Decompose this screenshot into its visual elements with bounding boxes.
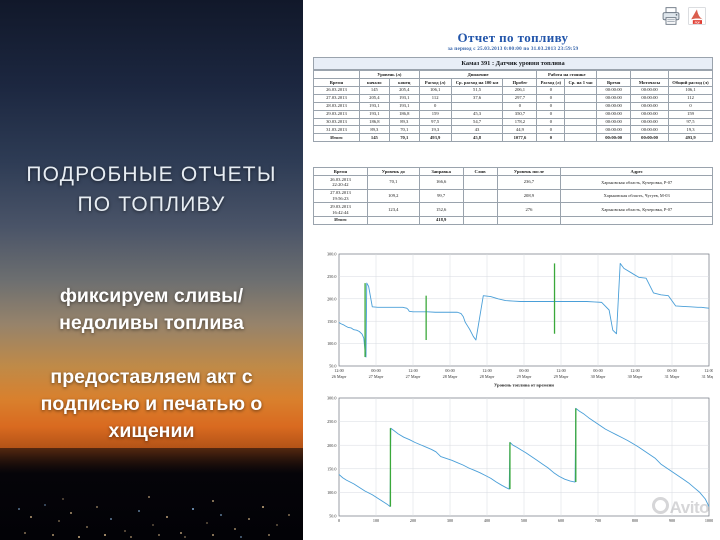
x-tick-label: 500 (521, 518, 527, 523)
table-cell: 276 (497, 203, 561, 217)
table-cell: 297,7 (503, 94, 537, 102)
table-cell: Харьковская область, Кучеровка, Р-07 (561, 203, 713, 217)
y-tick-label: 250.0 (327, 274, 336, 279)
table-cell (561, 216, 713, 224)
table-cell: 350,7 (503, 110, 537, 118)
table-cell: 28.03.2013 (314, 102, 360, 110)
y-tick-label: 100.0 (327, 490, 336, 495)
table-row: 29.03.201316:42:44123,4152,6276Харьковск… (314, 203, 713, 217)
table-cell: 89,3 (359, 126, 389, 134)
table-cell: 193,1 (359, 102, 389, 110)
column-header-7: Ср. на 1 час (565, 78, 597, 86)
table-cell: Итого (314, 216, 368, 224)
table-row: 27.03.2013205,4193,111237,6297,7000:00:0… (314, 94, 713, 102)
x-tick-label-date: 27 Март (369, 374, 384, 379)
x-tick-label-date: 27 Март (406, 374, 421, 379)
table-row: 26.03.201322:20:4270,1166,6236,7Харьковс… (314, 175, 713, 189)
table-cell: 193,1 (389, 102, 419, 110)
promo-headline-line1: ПОДРОБНЫЕ ОТЧЕТЫ (0, 160, 303, 190)
table-cell: Итого (314, 134, 360, 142)
table-cell: 00:00:00 (631, 102, 669, 110)
table-cell: 0 (537, 134, 565, 142)
table-cell: 54,7 (451, 118, 503, 126)
x-tick-label-time: 00:00 (667, 368, 677, 373)
table-cell: 206,1 (503, 86, 537, 94)
table-cell: 493,9 (419, 134, 451, 142)
table-cell: 29.03.2013 (314, 110, 360, 118)
table-cell: 00:00:00 (597, 102, 631, 110)
table-cell: 00:00:00 (597, 118, 631, 126)
table-cell: 193,1 (359, 110, 389, 118)
table-cell: 186,8 (389, 110, 419, 118)
table-cell: 70,1 (389, 134, 419, 142)
table-cell: 0 (419, 102, 451, 110)
group-header-4 (597, 71, 631, 79)
table-cell: 0 (537, 126, 565, 134)
table-cell: 159 (419, 110, 451, 118)
table-cell (565, 110, 597, 118)
column-header-2: конец (389, 78, 419, 86)
table-cell: 89,3 (389, 118, 419, 126)
table-cell: 493,9 (669, 134, 713, 142)
x-tick-label: 700 (595, 518, 601, 523)
table-cell: Харьковская область, Чугуев, М-03 (561, 189, 713, 203)
group-header-row: Уровень (л)ДвижениеРабота на стоянке (314, 71, 713, 79)
table-cell: 27.03.2013 (314, 94, 360, 102)
fuel-summary-tbody: 26.03.2013145205,4106,151,5206,1000:00:0… (314, 86, 713, 141)
svg-text:PDF: PDF (695, 20, 701, 24)
city-lights (0, 448, 303, 540)
promo-bullet-2: предоставляем акт с подписью и печатью о… (0, 364, 303, 445)
table-cell: 19,3 (669, 126, 713, 134)
table-cell: 00:00:00 (631, 94, 669, 102)
table-cell: 106,1 (419, 86, 451, 94)
promo-headline-line2: ПО ТОПЛИВУ (0, 190, 303, 220)
avito-watermark: Avito (652, 497, 709, 518)
table-cell: 0 (537, 110, 565, 118)
group-header-6 (669, 71, 713, 79)
device-bar: Камаз 391 : Датчик уровня топлива (313, 57, 713, 70)
table-cell (565, 94, 597, 102)
table-cell: 0 (537, 102, 565, 110)
group-header-2: Движение (419, 71, 537, 79)
table-cell: 0 (537, 94, 565, 102)
table-row: 27.03.201319:56:23109,299,7208,9Харьковс… (314, 189, 713, 203)
table-cell (367, 216, 419, 224)
y-tick-label: 200.0 (327, 443, 336, 448)
table-cell (565, 102, 597, 110)
x-tick-label-time: 00:00 (371, 368, 381, 373)
y-tick-label: 250.0 (327, 419, 336, 424)
table-row: 29.03.2013193,1186,815945,3350,7000:00:0… (314, 110, 713, 118)
table-row: 26.03.2013145205,4106,151,5206,1000:00:0… (314, 86, 713, 94)
column-header-5: Пробег (503, 78, 537, 86)
x-tick-label-time: 12:00 (704, 368, 713, 373)
table-cell (497, 216, 561, 224)
fuel-events-table: ВремяУровень доЗаправкаСливУровень после… (313, 167, 713, 225)
events-column-header-0: Время (314, 168, 368, 176)
page-root: ПОДРОБНЫЕ ОТЧЕТЫ ПО ТОПЛИВУ фиксируем сл… (0, 0, 720, 540)
table-cell (565, 86, 597, 94)
group-header-3: Работа на стоянке (537, 71, 597, 79)
x-tick-label-date: 28 Март (480, 374, 495, 379)
x-tick-label-time: 00:00 (593, 368, 603, 373)
table-cell: 106,1 (669, 86, 713, 94)
table-row: 28.03.2013193,1193,100000:00:0000:00:000 (314, 102, 713, 110)
x-tick-label: 400 (484, 518, 490, 523)
report-subtitle: за период с 25.03.2013 0:00:00 по 31.03.… (311, 46, 715, 52)
table-cell: 45,8 (451, 134, 503, 142)
table-cell: 236,7 (497, 175, 561, 189)
table-cell: 45,3 (451, 110, 503, 118)
table-cell (565, 118, 597, 126)
table-cell: 00:00:00 (631, 86, 669, 94)
events-column-header-5: Адрес (561, 168, 713, 176)
x-tick-label-date: 29 Март (517, 374, 532, 379)
table-cell: 70,1 (367, 175, 419, 189)
column-header-row: ВремяначалоконецРасход (л)Ср. расход на … (314, 78, 713, 86)
x-tick-label: 300 (447, 518, 453, 523)
chart-svg: 50.0100.0150.0200.0250.0300.012:0026 Мар… (313, 250, 713, 388)
x-tick-label-time: 12:00 (556, 368, 566, 373)
x-tick-label-date: 30 Март (591, 374, 606, 379)
x-tick-label: 200 (410, 518, 416, 523)
table-cell: 0 (669, 102, 713, 110)
table-cell: 109,2 (367, 189, 419, 203)
table-cell: 00:00:00 (597, 94, 631, 102)
table-cell: 145 (359, 86, 389, 94)
x-tick-label-date: 29 Март (554, 374, 569, 379)
promo-bullet-1: фиксируем сливы/ недоливы топлива (0, 283, 303, 337)
events-tbody: 26.03.201322:20:4270,1166,6236,7Харьковс… (314, 175, 713, 224)
x-tick-label-date: 26 Март (332, 374, 347, 379)
table-cell: 27.03.201319:56:23 (314, 189, 368, 203)
table-cell: 31.03.2013 (314, 126, 360, 134)
group-header-1: Уровень (л) (359, 71, 419, 79)
events-column-header-4: Уровень после (497, 168, 561, 176)
table-row: 31.03.201389,370,119,34344,9000:00:0000:… (314, 126, 713, 134)
table-cell: 1077,6 (503, 134, 537, 142)
y-tick-label: 150.0 (327, 466, 336, 471)
table-cell: 97,5 (669, 118, 713, 126)
promo-headline: ПОДРОБНЫЕ ОТЧЕТЫ ПО ТОПЛИВУ (0, 160, 303, 220)
x-tick-label-time: 00:00 (519, 368, 529, 373)
promo-bullet-2-line1: предоставляем акт с (0, 364, 303, 391)
table-cell: 00:00:00 (631, 134, 669, 142)
chart-x-axis-title: Уровень топлива от времени (494, 383, 554, 388)
report-panel: PDF Отчет по топливу за период с 25.03.2… (303, 0, 720, 540)
table-cell: 205,4 (359, 94, 389, 102)
table-cell: 145 (359, 134, 389, 142)
y-tick-label: 200.0 (327, 296, 336, 301)
x-tick-label-time: 00:00 (445, 368, 455, 373)
fuel-level-time-chart: 50.0100.0150.0200.0250.0300.012:0026 Мар… (313, 250, 713, 388)
column-header-9: Моточасы (631, 78, 669, 86)
table-cell: 00:00:00 (631, 110, 669, 118)
table-cell: 99,7 (419, 189, 463, 203)
table-cell: 205,4 (389, 86, 419, 94)
column-header-10: Общий расход (л) (669, 78, 713, 86)
table-cell: 30.03.2013 (314, 118, 360, 126)
table-cell: 44,9 (503, 126, 537, 134)
table-cell (463, 175, 497, 189)
x-tick-label-date: 31 Март (702, 374, 713, 379)
printer-icon[interactable] (661, 6, 681, 26)
x-tick-label-time: 12:00 (408, 368, 418, 373)
table-cell: 208,9 (497, 189, 561, 203)
y-tick-label: 150.0 (327, 319, 336, 324)
group-header-0 (314, 71, 360, 79)
table-cell: 00:00:00 (597, 86, 631, 94)
table-cell: 112 (669, 94, 713, 102)
table-cell (565, 126, 597, 134)
table-cell: 0 (537, 118, 565, 126)
x-tick-label: 600 (558, 518, 564, 523)
fuel-summary-table: Уровень (л)ДвижениеРабота на стоянке Вре… (313, 70, 713, 142)
x-tick-label: 0 (338, 518, 340, 523)
report-toolbar: PDF (661, 6, 707, 26)
table-cell (463, 189, 497, 203)
events-thead: ВремяУровень доЗаправкаСливУровень после… (314, 168, 713, 176)
x-tick-label-date: 28 Март (443, 374, 458, 379)
group-header-5 (631, 71, 669, 79)
table-cell: 19,3 (419, 126, 451, 134)
column-header-4: Ср. расход на 100 км (451, 78, 503, 86)
column-header-3: Расход (л) (419, 78, 451, 86)
events-header-row: ВремяУровень доЗаправкаСливУровень после… (314, 168, 713, 176)
table-cell: 37,6 (451, 94, 503, 102)
promo-bullet-2-line2: подписью и печатью о (0, 391, 303, 418)
table-cell: 112 (419, 94, 451, 102)
fuel-summary-thead: Уровень (л)ДвижениеРабота на стоянке Вре… (314, 71, 713, 87)
pdf-icon[interactable]: PDF (687, 6, 707, 26)
events-column-header-1: Уровень до (367, 168, 419, 176)
y-tick-label: 300.0 (327, 252, 336, 257)
events-table-wrapper: ВремяУровень доЗаправкаСливУровень после… (313, 167, 713, 225)
table-cell: 29.03.201316:42:44 (314, 203, 368, 217)
x-tick-label-date: 31 Март (665, 374, 680, 379)
promo-bullet-1-line1: фиксируем сливы/ (0, 283, 303, 310)
table-cell: 193,1 (389, 94, 419, 102)
x-tick-label-time: 12:00 (630, 368, 640, 373)
column-header-8: Время (597, 78, 631, 86)
table-cell: Харьковская область, Кучеровка, Р-07 (561, 175, 713, 189)
x-tick-label-time: 12:00 (482, 368, 492, 373)
table-cell: 97,5 (419, 118, 451, 126)
report-title: Отчет по топливу (311, 30, 715, 46)
table-cell: 0 (537, 86, 565, 94)
x-tick-label: 100 (373, 518, 379, 523)
table-cell (565, 134, 597, 142)
table-total-row: Итого418,9 (314, 216, 713, 224)
column-header-0: Время (314, 78, 360, 86)
x-tick-label: 1000 (705, 518, 713, 523)
table-total-row: Итого14570,1493,945,81077,6000:00:0000:0… (314, 134, 713, 142)
table-cell: 00:00:00 (597, 126, 631, 134)
table-cell: 186,8 (359, 118, 389, 126)
table-cell: 0 (503, 102, 537, 110)
table-cell: 00:00:00 (631, 126, 669, 134)
watermark-dot-icon (652, 497, 669, 514)
promo-bullet-2-line3: хищении (0, 418, 303, 445)
y-tick-label: 300.0 (327, 396, 336, 401)
table-cell: 166,6 (419, 175, 463, 189)
table-cell: 43 (451, 126, 503, 134)
table-cell (463, 203, 497, 217)
y-tick-label: 100.0 (327, 341, 336, 346)
events-column-header-2: Заправка (419, 168, 463, 176)
table-row: 30.03.2013186,889,397,554,7178,2000:00:0… (314, 118, 713, 126)
x-tick-label: 800 (632, 518, 638, 523)
table-cell: 51,5 (451, 86, 503, 94)
x-tick-label-date: 30 Март (628, 374, 643, 379)
events-column-header-3: Слив (463, 168, 497, 176)
column-header-6: Расход (л) (537, 78, 565, 86)
table-cell (451, 102, 503, 110)
main-table-wrapper: Камаз 391 : Датчик уровня топлива Уровен… (313, 57, 713, 142)
y-tick-label: 50.0 (329, 514, 336, 519)
table-cell: 178,2 (503, 118, 537, 126)
x-tick-label-time: 12:00 (334, 368, 344, 373)
table-cell: 00:00:00 (597, 110, 631, 118)
table-cell: 159 (669, 110, 713, 118)
promo-bullet-1-line2: недоливы топлива (0, 310, 303, 337)
table-cell: 418,9 (419, 216, 463, 224)
table-cell: 152,6 (419, 203, 463, 217)
column-header-1: начало (359, 78, 389, 86)
table-cell: 26.03.2013 (314, 86, 360, 94)
table-cell: 123,4 (367, 203, 419, 217)
watermark-text: Avito (670, 498, 709, 517)
table-cell: 00:00:00 (631, 118, 669, 126)
table-cell: 70,1 (389, 126, 419, 134)
x-tick-label: 900 (669, 518, 675, 523)
table-cell: 00:00:00 (597, 134, 631, 142)
table-cell (463, 216, 497, 224)
table-cell: 26.03.201322:20:42 (314, 175, 368, 189)
promo-panel: ПОДРОБНЫЕ ОТЧЕТЫ ПО ТОПЛИВУ фиксируем сл… (0, 0, 303, 540)
